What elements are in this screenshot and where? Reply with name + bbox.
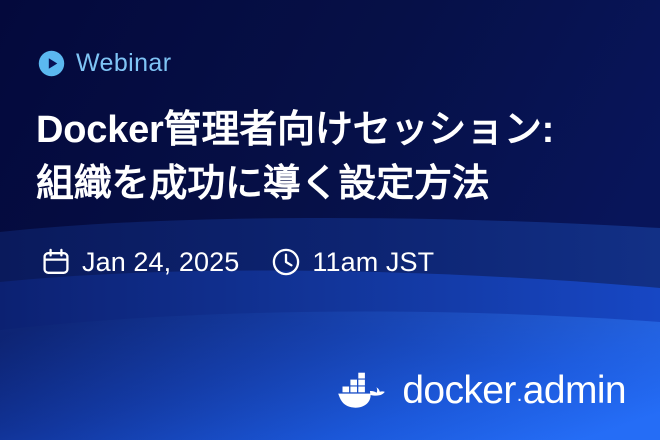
- clock-icon: [271, 247, 301, 277]
- page-title: Docker管理者向けセッション: 組織を成功に導く設定方法: [36, 104, 646, 212]
- brand-separator: .: [517, 385, 522, 405]
- event-time-label: 11am JST: [312, 249, 434, 276]
- event-date: Jan 24, 2025: [41, 247, 239, 277]
- play-circle-icon: [38, 50, 65, 77]
- eyebrow-label: Webinar: [76, 51, 171, 76]
- headline-line-2: 組織を成功に導く設定方法: [36, 158, 646, 212]
- webinar-banner: Webinar Docker管理者向けセッション: 組織を成功に導く設定方法 J…: [0, 0, 660, 440]
- brand-name: docker: [402, 371, 515, 410]
- brand-wordmark: docker . admin: [402, 371, 626, 410]
- brand-product: admin: [523, 371, 626, 410]
- headline-line-1: Docker管理者向けセッション:: [36, 104, 646, 158]
- docker-whale-icon: [332, 369, 388, 411]
- event-time: 11am JST: [271, 247, 434, 277]
- eyebrow: Webinar: [38, 50, 171, 77]
- brand-lockup: docker . admin: [332, 369, 626, 411]
- event-date-label: Jan 24, 2025: [82, 249, 239, 276]
- event-meta: Jan 24, 2025 11am JST: [41, 247, 434, 277]
- banner-content: Webinar Docker管理者向けセッション: 組織を成功に導く設定方法 J…: [0, 0, 660, 440]
- calendar-icon: [41, 247, 71, 277]
